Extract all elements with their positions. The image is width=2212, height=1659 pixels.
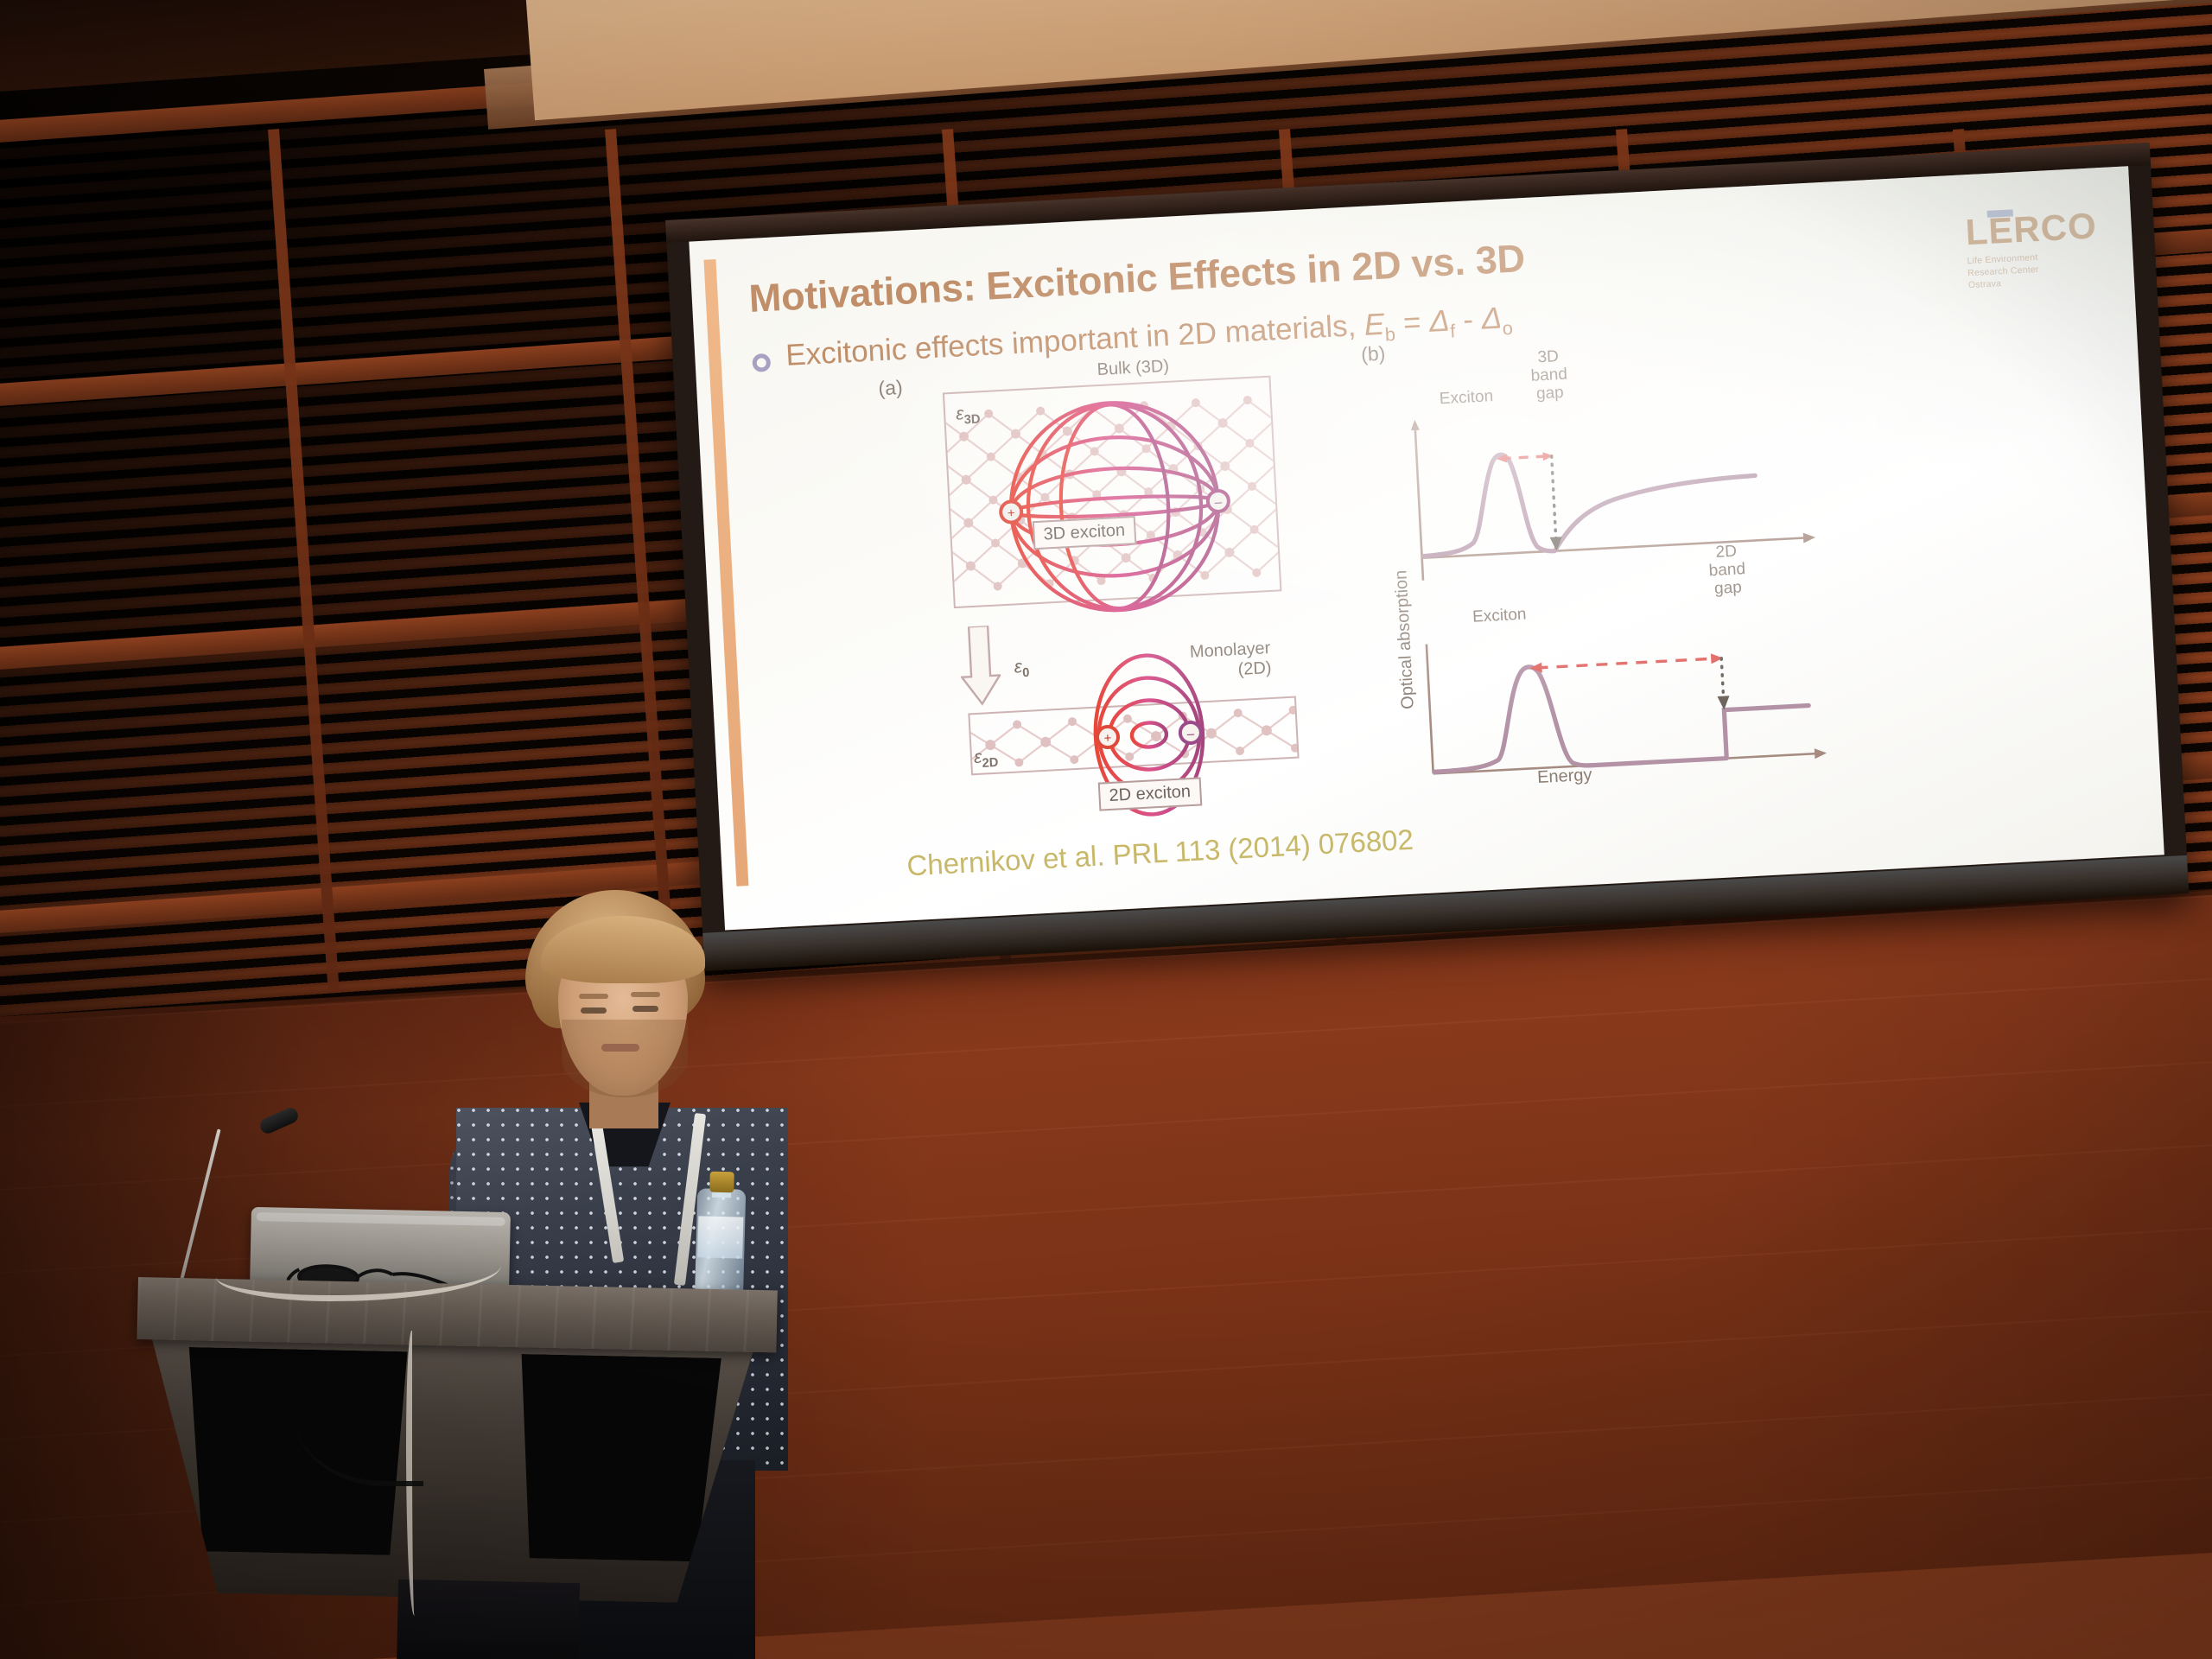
presenter-eye-left	[581, 1007, 607, 1014]
epsilon-2d-sub: 2D	[982, 756, 999, 771]
upper-bandgap-line3: gap	[1515, 383, 1585, 404]
presenter-mouth	[601, 1044, 639, 1052]
svg-text:–: –	[1214, 495, 1223, 510]
svg-text:–: –	[1186, 727, 1195, 741]
epsilon-0-label: ε0	[1014, 657, 1030, 681]
downward-arrow-icon	[958, 625, 1002, 706]
slide-citation: Chernikov et al. PRL 113 (2014) 076802	[906, 823, 1414, 883]
epsilon-0-sub: 0	[1022, 666, 1030, 680]
bulk-3d-caption: Bulk (3D)	[1096, 357, 1169, 380]
lerco-accent-bar	[1987, 209, 2013, 218]
tag-2d-exciton: 2D exciton	[1098, 777, 1202, 810]
svg-text:+: +	[1007, 505, 1015, 520]
presenter-beard	[562, 1020, 688, 1097]
lerco-logo: LERCO Life Environment Research Center O…	[1965, 207, 2100, 291]
lower-bandgap-line3: gap	[1692, 578, 1765, 600]
chart-ylabel: Optical absorption	[1391, 569, 1418, 709]
presenter-brow-right	[631, 992, 660, 997]
figure-panel-b-label: (b)	[1361, 342, 1386, 366]
projected-slide: Motivations: Excitonic Effects in 2D vs.…	[689, 166, 2164, 930]
slide-content: Motivations: Excitonic Effects in 2D vs.…	[689, 166, 2164, 930]
bottle-cap	[709, 1172, 734, 1193]
lectern-panel-right	[518, 1354, 726, 1562]
bottle-label	[697, 1216, 743, 1258]
lectern	[138, 1277, 778, 1659]
ring-bullet-icon	[752, 353, 771, 372]
figure-panel-b: (b) Optical absorption Exciton 3D band g…	[1360, 314, 1885, 798]
water-bottle	[695, 1166, 747, 1294]
lower-exciton-label: Exciton	[1447, 605, 1552, 628]
projection-screen: Motivations: Excitonic Effects in 2D vs.…	[665, 143, 2189, 971]
figure-panel-a-label: (a)	[878, 376, 903, 400]
slide-figure: (a) Bulk (3D)	[877, 309, 1903, 828]
upper-bandgap-label: 3D band gap	[1513, 347, 1585, 405]
epsilon-3d-label: ε3D	[956, 403, 981, 428]
epsilon-2d-label: ε2D	[973, 747, 998, 772]
presenter-brow-left	[579, 994, 608, 999]
presenter-eye-right	[632, 1006, 658, 1012]
lerco-mark-text: LERCO	[1965, 205, 2098, 252]
upper-exciton-label: Exciton	[1419, 387, 1515, 410]
screenshot-canvas: Motivations: Excitonic Effects in 2D vs.…	[0, 0, 2212, 1659]
epsilon-3d-sub: 3D	[963, 412, 981, 427]
lectern-body	[145, 1332, 755, 1605]
lectern-base	[397, 1580, 580, 1659]
lerco-wordmark: LERCO	[1965, 207, 2098, 251]
figure-panel-a: Bulk (3D)	[915, 348, 1344, 818]
chart-2d-absorption	[1414, 623, 1836, 793]
tag-3d-exciton: 3D exciton	[1033, 516, 1136, 550]
lerco-subtitle: Life Environment Research Center Ostrava	[1967, 248, 2100, 291]
chart-xlabel: Energy	[1537, 766, 1592, 788]
svg-text:+: +	[1103, 731, 1112, 746]
exciton-3d-orbitals: + –	[979, 379, 1250, 634]
lower-bandgap-label: 2D band gap	[1689, 542, 1764, 600]
